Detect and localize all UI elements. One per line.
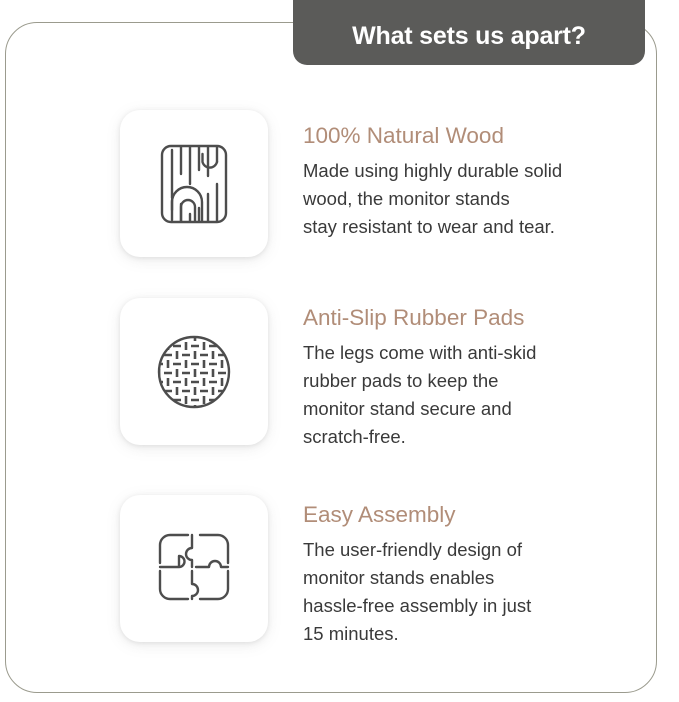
feature-heading: 100% Natural Wood [303,124,562,149]
icon-tile [120,110,268,257]
feature-list: 100% Natural Wood Made using highly dura… [0,0,679,702]
feature-heading: Anti-Slip Rubber Pads [303,306,536,331]
banner-title: What sets us apart? [352,24,586,49]
icon-tile [120,298,268,445]
banner-header: What sets us apart? [293,0,645,65]
feature-body: The user-friendly design of monitor stan… [303,536,531,648]
feature-item-natural-wood: 100% Natural Wood Made using highly dura… [120,110,562,257]
feature-text: Anti-Slip Rubber Pads The legs come with… [303,298,536,451]
feature-text: Easy Assembly The user-friendly design o… [303,495,531,648]
icon-tile [120,495,268,642]
feature-heading: Easy Assembly [303,503,531,528]
feature-item-anti-slip-rubber-pads: Anti-Slip Rubber Pads The legs come with… [120,298,536,451]
feature-body: The legs come with anti-skid rubber pads… [303,339,536,451]
wood-plank-icon [148,138,240,230]
rubber-pad-weave-icon [148,326,240,418]
feature-item-easy-assembly: Easy Assembly The user-friendly design o… [120,495,531,648]
feature-body: Made using highly durable solid wood, th… [303,157,562,241]
feature-text: 100% Natural Wood Made using highly dura… [303,110,562,241]
puzzle-pieces-icon [148,523,240,615]
